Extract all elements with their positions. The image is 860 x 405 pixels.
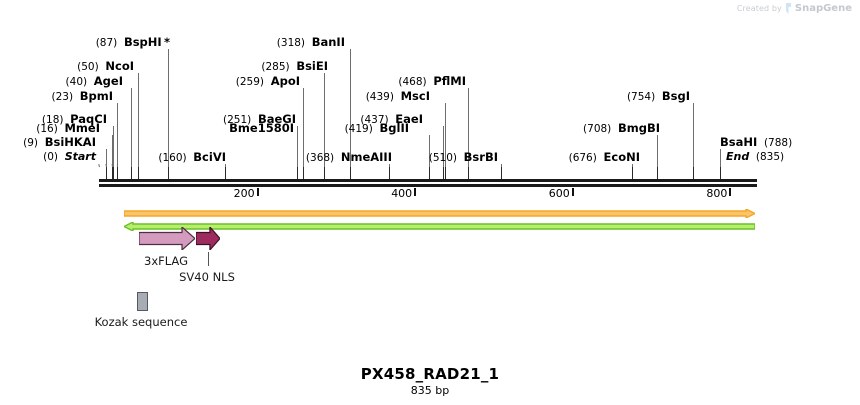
enzyme-position: (788) [757, 137, 792, 149]
watermark-brand: SnapGene [795, 3, 852, 14]
leader-line [389, 164, 390, 167]
enzyme-label-mmei: (16) MmeI [36, 122, 100, 135]
sequence-line-bottom [99, 184, 757, 187]
feature-3xflag[interactable] [139, 227, 195, 250]
enzyme-label-agei: (40) AgeI [66, 75, 123, 88]
fan-leader [117, 164, 118, 167]
leader-line [225, 164, 226, 167]
cut-site-tick [429, 167, 430, 179]
enzyme-name: BmgBI [618, 121, 660, 135]
enzyme-label-ncoi: (50) NcoI [77, 60, 134, 73]
enzyme-position: (468) [398, 76, 433, 88]
enzyme-position: (439) [366, 91, 401, 103]
label-3xflag: 3xFLAG [144, 254, 188, 268]
enzyme-label-bsphi: (87) BspHI * [96, 36, 170, 49]
leader-line [303, 88, 304, 167]
cut-site-tick [350, 167, 351, 179]
enzyme-name: PflMI [433, 74, 466, 88]
ruler-tick-200 [257, 188, 259, 196]
cut-site-tick [468, 167, 469, 179]
cut-site-tick [501, 167, 502, 179]
orange-track[interactable] [124, 203, 755, 212]
sequence-length: 835 bp [0, 384, 860, 397]
enzyme-label-bsgi: (754) BsgI [627, 90, 690, 103]
green-track[interactable] [124, 216, 755, 225]
cut-site-tick [297, 167, 298, 179]
enzyme-name: Bme1580I [229, 121, 294, 135]
enzyme-position: (285) [261, 61, 296, 73]
cut-site-tick [113, 167, 114, 179]
enzyme-name: ApoI [271, 74, 300, 88]
enzyme-name: BglII [380, 121, 410, 135]
enzyme-label-bsahi: BsaHI (788) [720, 136, 792, 149]
enzyme-position: (676) [569, 152, 604, 164]
cut-site-tick [324, 167, 325, 179]
sv40-nls-leader [208, 252, 209, 266]
enzyme-label-bme1580i: Bme1580I [229, 122, 294, 135]
label-kozak-sequence: Kozak sequence [95, 315, 188, 329]
enzyme-name: MscI [401, 89, 430, 103]
cut-site-tick [225, 167, 226, 179]
label-sv40-nls: SV40 NLS [179, 270, 235, 284]
enzyme-label-bsiei: (285) BsiEI [261, 60, 328, 73]
enzyme-position: (50) [77, 61, 105, 73]
leader-line [657, 135, 658, 167]
enzyme-label-econi: (676) EcoNI [569, 151, 640, 164]
feature-3xflag-glyph [139, 227, 195, 250]
cut-site-tick [389, 167, 390, 179]
enzyme-position: (510) [429, 152, 464, 164]
start-position: (0) [43, 151, 65, 163]
ruler-tick-400 [414, 188, 416, 196]
enzyme-label-msci: (439) MscI [366, 90, 430, 103]
cut-site-tick [720, 167, 721, 179]
enzyme-name: BsiEI [296, 59, 328, 73]
enzyme-position: (708) [583, 123, 618, 135]
ruler-tick-600 [572, 188, 574, 196]
enzyme-name: BsgI [662, 89, 690, 103]
enzyme-name: BanII [312, 35, 345, 49]
enzyme-name: NmeAIII [341, 150, 392, 164]
enzyme-name: BsaHI [720, 135, 757, 149]
feature-kozak-sequence[interactable] [137, 292, 148, 311]
start-label: (0) Start [43, 151, 96, 163]
enzyme-position: (23) [52, 91, 80, 103]
enzyme-label-bpmi: (23) BpmI [52, 90, 114, 103]
snapgene-watermark: Created by SnapGene [737, 3, 852, 14]
enzyme-name: AgeI [94, 74, 123, 88]
enzyme-name: NcoI [105, 59, 134, 73]
snapgene-logo-icon [785, 3, 792, 14]
enzyme-position: (259) [236, 76, 271, 88]
ruler-label-800: 800 [706, 187, 727, 200]
enzyme-name: EcoNI [604, 150, 640, 164]
watermark-prefix: Created by [737, 4, 782, 13]
enzyme-name: BpmI [80, 89, 113, 103]
leader-line [720, 149, 721, 167]
cut-site-tick [131, 167, 132, 179]
cut-site-tick [106, 167, 107, 179]
enzyme-position: (9) [23, 137, 45, 149]
enzyme-name: BsrBI [464, 150, 498, 164]
enzyme-position: (368) [306, 152, 341, 164]
enzyme-label-banii: (318) BanII [277, 36, 345, 49]
enzyme-label-bmgbi: (708) BmgBI [583, 122, 660, 135]
cut-site-tick [693, 167, 694, 179]
cut-site-tick [303, 167, 304, 179]
enzyme-position: (87) [96, 37, 124, 49]
cut-site-tick [138, 167, 139, 179]
ruler-label-600: 600 [549, 187, 570, 200]
leader-line [117, 103, 118, 167]
enzyme-position: (160) [158, 152, 193, 164]
enzyme-position: (40) [66, 76, 94, 88]
feature-sv40-nls-glyph [196, 227, 220, 250]
cut-site-tick [632, 167, 633, 179]
enzyme-position: (754) [627, 91, 662, 103]
enzyme-name: BciVI [193, 150, 226, 164]
leader-line [112, 135, 113, 167]
enzyme-label-bglii: (419) BglII [345, 122, 409, 135]
cut-site-tick [657, 167, 658, 179]
cut-site-tick [168, 167, 169, 179]
cut-site-tick [112, 167, 113, 179]
ruler-tick-800 [729, 188, 731, 196]
cut-site-tick [445, 167, 446, 179]
enzyme-name: MmeI [64, 121, 100, 135]
enzyme-label-bsihkai: (9) BsiHKAI [23, 136, 96, 149]
end-text: End [726, 150, 749, 163]
leader-line [297, 126, 298, 167]
page-title: PX458_RAD21_1 [0, 365, 860, 383]
enzyme-label-bcivi: (160) BciVI [158, 151, 226, 164]
enzyme-position: (318) [277, 37, 312, 49]
leader-line [168, 49, 169, 167]
start-text: Start [65, 150, 96, 163]
enzyme-name: BsiHKAI [45, 135, 96, 149]
end-label: End (835) [726, 151, 784, 163]
leader-line [113, 126, 114, 167]
enzyme-label-bsrbi: (510) BsrBI [429, 151, 498, 164]
enzyme-position: (419) [345, 123, 380, 135]
end-position: (835) [749, 151, 784, 163]
enzyme-label-nmeaiii: (368) NmeAIII [306, 151, 392, 164]
enzyme-name: BspHI * [124, 35, 170, 49]
leader-line [501, 164, 502, 167]
leader-line [632, 164, 633, 167]
cut-site-tick [443, 167, 444, 179]
enzyme-position: (16) [36, 123, 64, 135]
enzyme-label-apoi: (259) ApoI [236, 75, 300, 88]
ruler-label-400: 400 [391, 187, 412, 200]
enzyme-label-pflmi: (468) PflMI [398, 75, 466, 88]
ruler-label-200: 200 [234, 187, 255, 200]
leader-line [131, 88, 132, 167]
cut-site-tick [117, 167, 118, 179]
feature-sv40-nls[interactable] [196, 227, 220, 250]
leader-line [138, 73, 139, 167]
leader-line [693, 103, 694, 167]
sequence-line-top [99, 179, 757, 182]
